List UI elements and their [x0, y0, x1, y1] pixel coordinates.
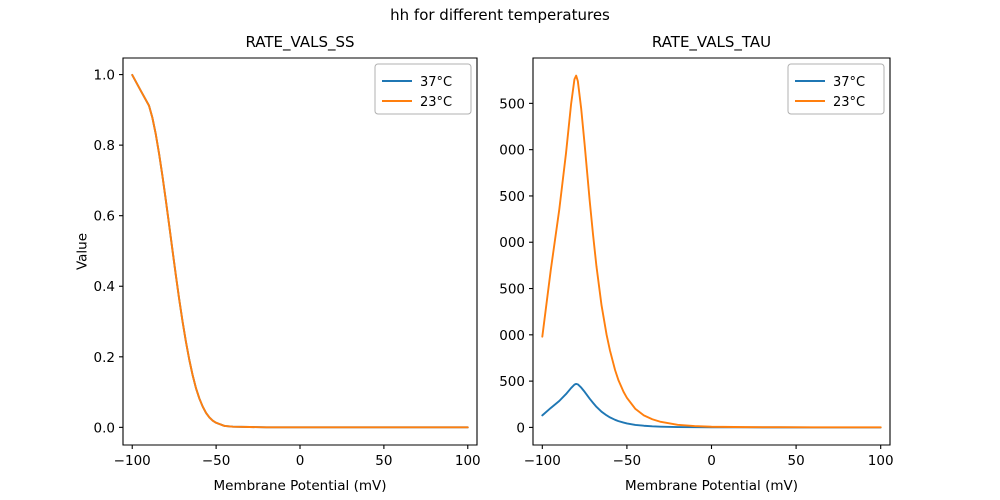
legend-label-1: 37°C: [420, 75, 452, 90]
y-tick-label: 500: [500, 374, 525, 390]
y-axis: 0.00.20.40.60.81.0Value: [74, 68, 123, 437]
subplot-rate-vals-tau: RATE_VALS_TAU−100−50050100Membrane Poten…: [500, 0, 1000, 500]
x-tick-label: −50: [613, 453, 642, 469]
plot-rate-vals-tau: RATE_VALS_TAU−100−50050100Membrane Poten…: [500, 0, 1000, 500]
x-tick-label: 100: [868, 453, 894, 469]
subplot-rate-vals-ss: RATE_VALS_SS−100−50050100Membrane Potent…: [0, 0, 500, 500]
x-tick-label: 0: [707, 453, 716, 469]
x-tick-label: 50: [375, 453, 392, 469]
y-tick-label: 1.0: [94, 68, 115, 84]
x-axis: −100−50050100Membrane Potential (mV): [524, 445, 894, 494]
y-tick-label: 2000: [500, 235, 525, 251]
y-tick-label: 0.8: [94, 138, 115, 154]
legend-label-2: 23°C: [420, 95, 452, 110]
axes-frame: [533, 58, 890, 445]
axes-frame: [123, 58, 477, 445]
legend: 37°C23°C: [788, 64, 884, 114]
x-axis: −100−50050100Membrane Potential (mV): [114, 445, 481, 494]
legend: 37°C23°C: [375, 64, 471, 114]
data-series-group: [542, 76, 880, 428]
data-series-group: [132, 75, 468, 427]
y-tick-label: 0.2: [94, 350, 115, 366]
y-tick-label: 0.4: [94, 279, 115, 295]
series-line-23c: [132, 75, 468, 427]
x-axis-label: Membrane Potential (mV): [625, 478, 798, 494]
subplot-title: RATE_VALS_SS: [245, 33, 354, 52]
x-tick-label: −100: [114, 453, 151, 469]
y-tick-label: 2500: [500, 189, 525, 205]
y-tick-label: 3000: [500, 143, 525, 159]
y-tick-label: 3500: [500, 96, 525, 112]
y-tick-label: 1500: [500, 282, 525, 298]
y-tick-label: 0: [516, 420, 525, 436]
x-tick-label: 100: [455, 453, 481, 469]
series-line-23c: [542, 76, 880, 428]
y-tick-label: 1000: [500, 328, 525, 344]
x-tick-label: −100: [524, 453, 561, 469]
subplot-title: RATE_VALS_TAU: [652, 33, 771, 52]
y-tick-label: 0.6: [94, 209, 115, 225]
x-tick-label: −50: [202, 453, 231, 469]
plot-rate-vals-ss: RATE_VALS_SS−100−50050100Membrane Potent…: [0, 0, 500, 500]
series-line-37c: [542, 384, 880, 428]
legend-label-1: 37°C: [833, 75, 865, 90]
y-axis-label: Value: [74, 233, 90, 270]
y-axis: 0500100015002000250030003500Value: [500, 96, 533, 436]
x-tick-label: 0: [296, 453, 305, 469]
x-axis-label: Membrane Potential (mV): [213, 478, 386, 494]
legend-label-2: 23°C: [833, 95, 865, 110]
figure-canvas: hh for different temperatures RATE_VALS_…: [0, 0, 1000, 500]
x-tick-label: 50: [788, 453, 805, 469]
series-line-37c: [132, 75, 468, 427]
y-tick-label: 0.0: [94, 420, 115, 436]
